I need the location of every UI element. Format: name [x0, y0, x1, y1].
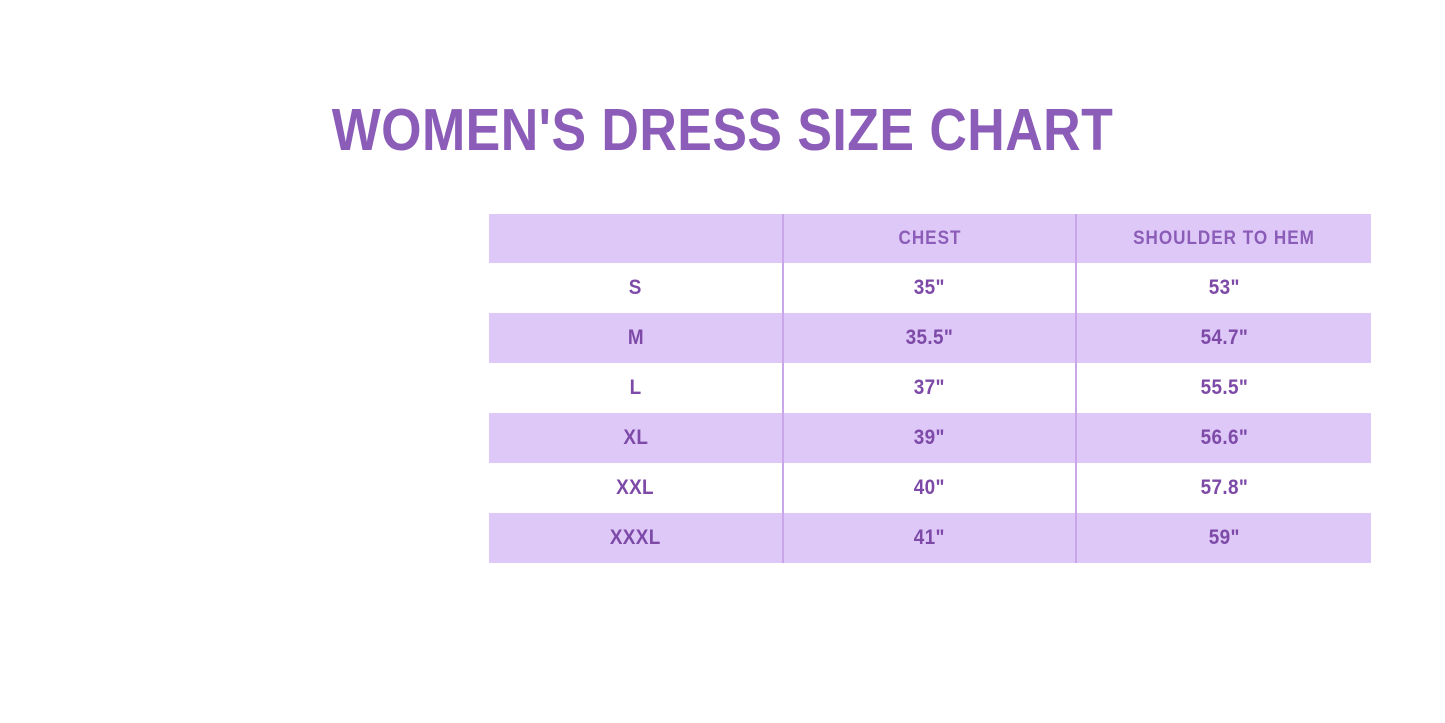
table-row: L 37" 55.5" [489, 363, 1371, 413]
chest-value: 41" [914, 526, 945, 550]
shoulder-to-hem-value: 59" [1208, 526, 1239, 550]
cell-shoulder-to-hem: 55.5" [1076, 363, 1371, 413]
shoulder-to-hem-value: 53" [1208, 276, 1239, 300]
size-label: M [627, 326, 643, 350]
cell-shoulder-to-hem: 56.6" [1076, 413, 1371, 463]
size-chart-table-wrapper: CHEST SHOULDER TO HEM S 35" 53" [489, 214, 1371, 563]
table-row: XXL 40" 57.8" [489, 463, 1371, 513]
cell-shoulder-to-hem: 54.7" [1076, 313, 1371, 363]
cell-shoulder-to-hem: 53" [1076, 263, 1371, 313]
cell-size: XXXL [489, 513, 783, 563]
column-header-chest-label: CHEST [898, 228, 961, 250]
cell-chest: 35.5" [783, 313, 1076, 363]
size-chart-page: WOMEN'S DRESS SIZE CHART CHEST SHOULDER … [0, 0, 1445, 723]
chest-value: 39" [914, 426, 945, 450]
cell-chest: 40" [783, 463, 1076, 513]
table-body: S 35" 53" M 35.5" [489, 263, 1371, 563]
table-row: M 35.5" 54.7" [489, 313, 1371, 363]
column-header-shoulder-to-hem: SHOULDER TO HEM [1076, 214, 1371, 263]
column-header-shoulder-to-hem-label: SHOULDER TO HEM [1133, 228, 1315, 250]
cell-size: L [489, 363, 783, 413]
chest-value: 40" [914, 476, 945, 500]
chest-value: 35.5" [906, 326, 954, 350]
shoulder-to-hem-value: 56.6" [1200, 426, 1248, 450]
shoulder-to-hem-value: 54.7" [1200, 326, 1248, 350]
table-header-row: CHEST SHOULDER TO HEM [489, 214, 1371, 263]
cell-chest: 41" [783, 513, 1076, 563]
shoulder-to-hem-value: 57.8" [1200, 476, 1248, 500]
column-header-size [489, 214, 783, 263]
table-row: S 35" 53" [489, 263, 1371, 313]
page-title: WOMEN'S DRESS SIZE CHART [87, 94, 1359, 166]
table-row: XL 39" 56.6" [489, 413, 1371, 463]
cell-size: XXL [489, 463, 783, 513]
cell-shoulder-to-hem: 57.8" [1076, 463, 1371, 513]
size-label: S [629, 276, 642, 300]
shoulder-to-hem-value: 55.5" [1200, 376, 1248, 400]
cell-size: XL [489, 413, 783, 463]
chest-value: 37" [914, 376, 945, 400]
table-row: XXXL 41" 59" [489, 513, 1371, 563]
cell-chest: 37" [783, 363, 1076, 413]
size-label: L [630, 376, 642, 400]
size-chart-table: CHEST SHOULDER TO HEM S 35" 53" [489, 214, 1371, 563]
size-label: XXL [617, 476, 655, 500]
table-header: CHEST SHOULDER TO HEM [489, 214, 1371, 263]
cell-chest: 39" [783, 413, 1076, 463]
size-label: XXXL [610, 526, 661, 550]
chest-value: 35" [914, 276, 945, 300]
cell-size: S [489, 263, 783, 313]
cell-chest: 35" [783, 263, 1076, 313]
column-header-chest: CHEST [783, 214, 1076, 263]
cell-shoulder-to-hem: 59" [1076, 513, 1371, 563]
cell-size: M [489, 313, 783, 363]
size-label: XL [623, 426, 648, 450]
